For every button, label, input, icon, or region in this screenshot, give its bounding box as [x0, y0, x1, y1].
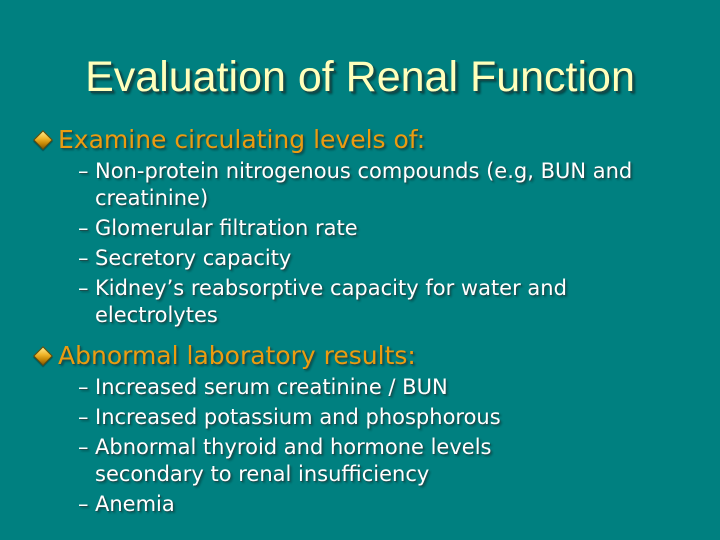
- sub-bullet-label: Increased serum creatinine / BUN: [95, 374, 706, 401]
- list-item: – Glomerular filtration rate: [36, 215, 706, 242]
- dash-icon: –: [78, 215, 95, 242]
- dash-icon: –: [78, 404, 95, 431]
- bullet-heading: Abnormal laboratory results:: [58, 340, 706, 372]
- dash-icon: –: [78, 434, 95, 461]
- bullet-section-2: Abnormal laboratory results:: [36, 340, 706, 372]
- section-spacer: [36, 332, 706, 340]
- list-item: – Abnormal thyroid and hormone levels se…: [36, 434, 706, 488]
- dash-icon: –: [78, 275, 95, 302]
- sub-bullet-label: Glomerular filtration rate: [95, 215, 706, 242]
- sub-bullet-label: Increased potassium and phosphorous: [95, 404, 706, 431]
- page-title: Evaluation of Renal Function: [0, 52, 720, 102]
- slide: Evaluation of Renal Function Examine cir…: [0, 0, 720, 540]
- sub-bullet-label: Non-protein nitrogenous compounds (e.g, …: [95, 158, 691, 212]
- list-item: – Secretory capacity: [36, 245, 706, 272]
- dash-icon: –: [78, 491, 95, 518]
- list-item: – Kidney’s reabsorptive capacity for wat…: [36, 275, 706, 329]
- sub-bullet-list-1: – Non-protein nitrogenous compounds (e.g…: [36, 158, 706, 329]
- dash-icon: –: [78, 245, 95, 272]
- slide-body: Examine circulating levels of: – Non-pro…: [36, 124, 706, 521]
- list-item: – Non-protein nitrogenous compounds (e.g…: [36, 158, 706, 212]
- bullet-heading: Examine circulating levels of:: [58, 124, 706, 156]
- dash-icon: –: [78, 374, 95, 401]
- sub-bullet-label: Secretory capacity: [95, 245, 706, 272]
- sub-bullet-list-2: – Increased serum creatinine / BUN – Inc…: [36, 374, 706, 518]
- bullet-section-1: Examine circulating levels of:: [36, 124, 706, 156]
- sub-bullet-label: Kidney’s reabsorptive capacity for water…: [95, 275, 691, 329]
- diamond-bullet-icon: [33, 346, 53, 366]
- list-item: – Increased potassium and phosphorous: [36, 404, 706, 431]
- list-item: – Anemia: [36, 491, 706, 518]
- list-item: – Increased serum creatinine / BUN: [36, 374, 706, 401]
- sub-bullet-label: Abnormal thyroid and hormone levels seco…: [95, 434, 595, 488]
- dash-icon: –: [78, 158, 95, 185]
- diamond-bullet-icon: [33, 130, 53, 150]
- sub-bullet-label: Anemia: [95, 491, 706, 518]
